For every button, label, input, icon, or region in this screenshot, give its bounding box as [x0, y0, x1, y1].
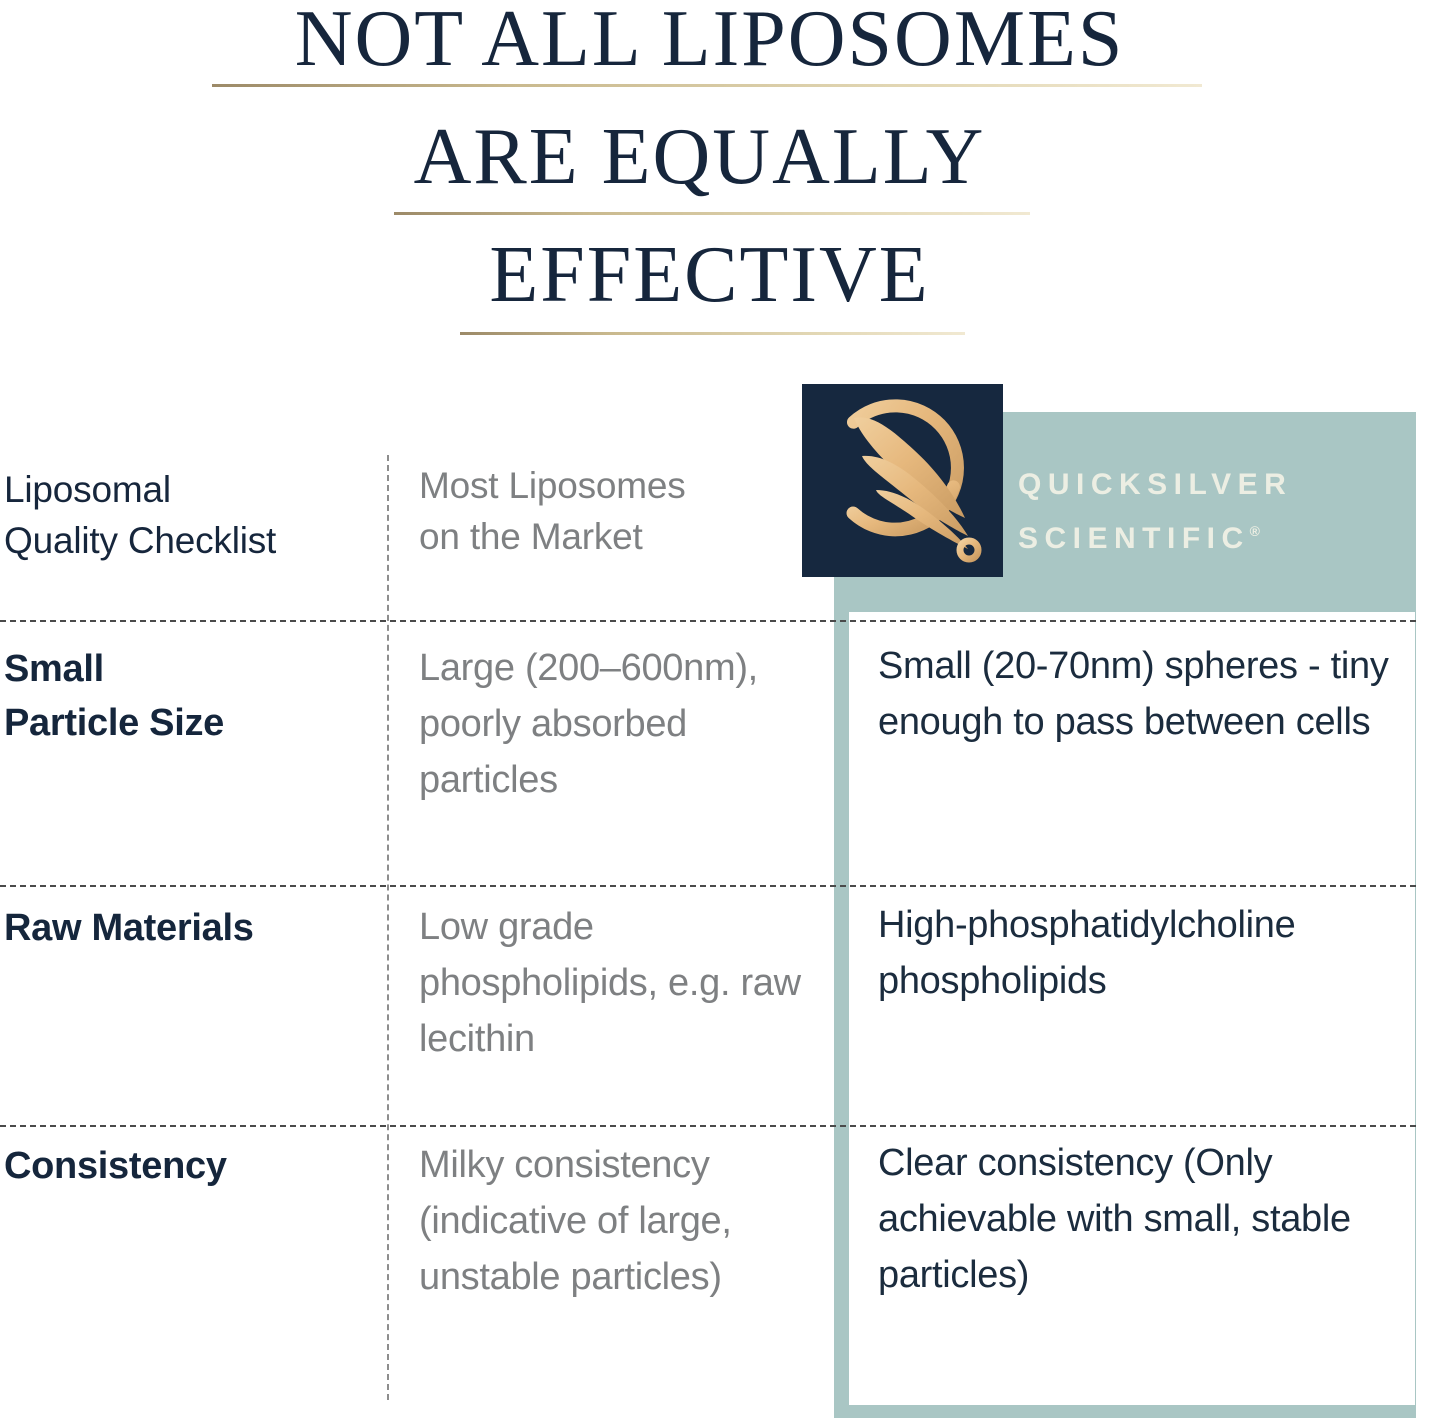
row-label-line-1: Raw Materials [4, 901, 363, 955]
gold-divider-rule-2 [394, 212, 1030, 215]
row-market-cell: Large (200–600nm), poorly absorbed parti… [387, 620, 834, 885]
gold-divider-rule-1 [212, 84, 1202, 87]
row-market-cell: Low grade phospholipids, e.g. raw lecith… [387, 885, 834, 1125]
header-checklist-line-2: Quality Checklist [4, 515, 363, 566]
table-row: Raw Materials Low grade phospholipids, e… [0, 885, 1435, 1125]
table-row: Small Particle Size Large (200–600nm), p… [0, 620, 1435, 885]
row-label-cell: Small Particle Size [0, 620, 387, 885]
row-quicksilver-cell: Clear consistency (Only achievable with … [834, 1125, 1435, 1415]
page-title-line-3: EFFECTIVE [0, 232, 1427, 318]
page-title-line-2: ARE EQUALLY [0, 114, 1417, 200]
page-title-line-1: NOT ALL LIPOSOMES [0, 0, 1427, 82]
page-title-block: NOT ALL LIPOSOMES ARE EQUALLY EFFECTIVE [0, 0, 1435, 360]
row-label-cell: Raw Materials [0, 885, 387, 1125]
row-label-line-2: Particle Size [4, 696, 363, 750]
header-cell-market: Most Liposomes on the Market [387, 440, 834, 620]
row-label-cell: Consistency [0, 1125, 387, 1415]
table-row: Consistency Milky consistency (indicativ… [0, 1125, 1435, 1415]
header-checklist-line-1: Liposomal [4, 464, 363, 515]
row-quicksilver-cell: High-phosphatidylcholine phospholipids [834, 885, 1435, 1125]
comparison-table: Liposomal Quality Checklist Most Liposom… [0, 440, 1435, 1415]
table-header-row: Liposomal Quality Checklist Most Liposom… [0, 440, 1435, 620]
row-market-cell: Milky consistency (indicative of large, … [387, 1125, 834, 1415]
row-label-line-1: Consistency [4, 1139, 363, 1193]
header-cell-quicksilver [834, 440, 1435, 620]
header-market-line-1: Most Liposomes [419, 460, 808, 511]
row-label-line-1: Small [4, 642, 363, 696]
header-market-line-2: on the Market [419, 511, 808, 562]
row-quicksilver-cell: Small (20-70nm) spheres - tiny enough to… [834, 620, 1435, 885]
header-cell-checklist: Liposomal Quality Checklist [0, 440, 387, 620]
gold-divider-rule-3 [460, 332, 965, 335]
